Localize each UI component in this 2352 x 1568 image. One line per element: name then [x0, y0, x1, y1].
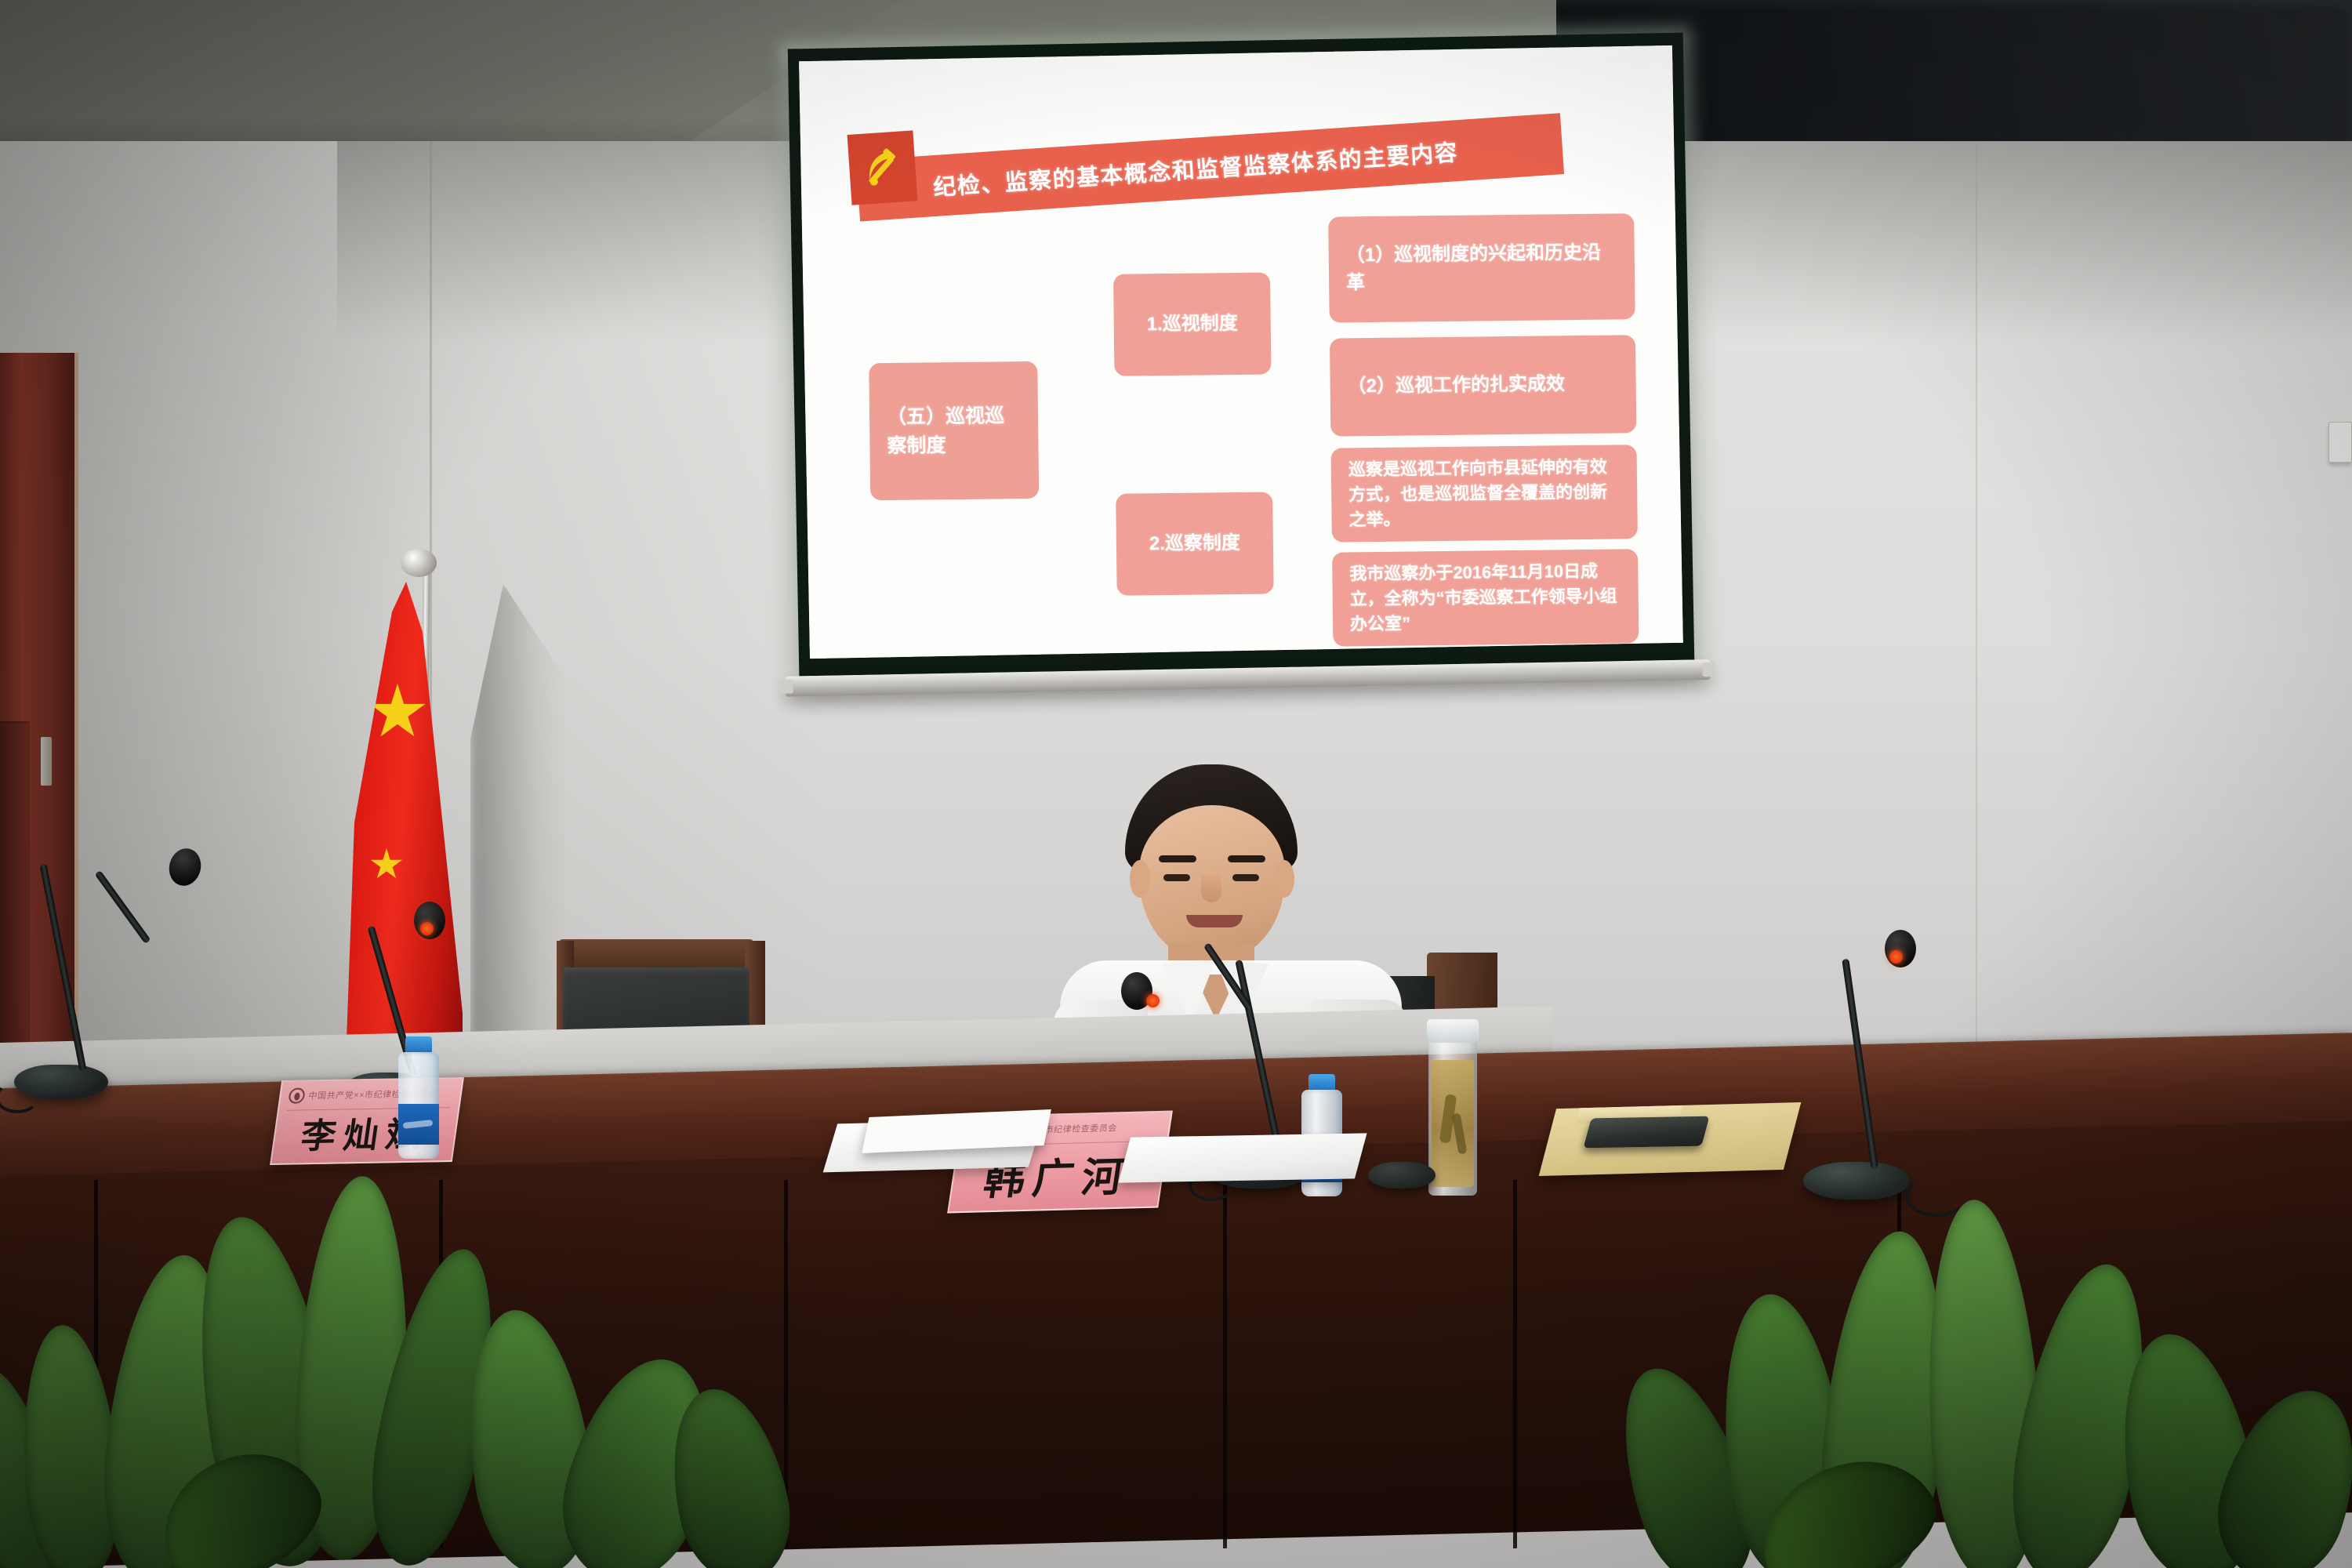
bottle-cap [405, 1036, 432, 1054]
slide-box-branch-2: 2.巡察制度 [1116, 492, 1273, 595]
speaker-brow-left [1159, 855, 1196, 862]
door-hinge-upper [41, 737, 52, 786]
wall-seam-right [1976, 141, 1977, 1082]
wall-light-switch[interactable] [2328, 422, 2352, 463]
conference-room-photo: 纪检、监察的基本概念和监督监察体系的主要内容 （五）巡视巡察制度 [0, 0, 2352, 1568]
slide-box-item-1: （1）巡视制度的兴起和历史沿革 [1328, 213, 1635, 322]
slide-box-branch-1: 1.巡视制度 [1113, 272, 1271, 376]
slide-box-item-2: （2）巡视工作的扎实成效 [1330, 335, 1636, 436]
slide-box-note-1-text: 巡察是巡视工作向市县延伸的有效方式，也是巡视监督全覆盖的创新之举。 [1348, 455, 1621, 533]
slide-box-section-text: （五）巡视巡察制度 [887, 401, 1022, 459]
slide-box-note-2: 我市巡察办于2016年11月10日成立，全称为“市委巡察工作领导小组办公室” [1332, 549, 1639, 646]
table-panel-seam [1223, 1180, 1227, 1548]
slide-title: 纪检、监察的基本概念和监督监察体系的主要内容 [932, 134, 1459, 202]
tea-jar-lid [1427, 1019, 1479, 1043]
flag-star-small [370, 848, 403, 881]
microphone-led-4 [1889, 950, 1903, 964]
speaker-mouth [1186, 915, 1243, 927]
flag-pole-finial [401, 549, 437, 577]
slide-box-item-1-text: （1）巡视制度的兴起和历史沿革 [1346, 239, 1618, 297]
speaker-ear-left [1130, 860, 1150, 898]
desk-puck-device[interactable] [1368, 1162, 1436, 1189]
slide-title-banner: 纪检、监察的基本概念和监督监察体系的主要内容 [856, 113, 1564, 221]
speaker-nose [1201, 874, 1221, 902]
potted-plant-left [0, 1129, 909, 1568]
slide-box-note-1: 巡察是巡视工作向市县延伸的有效方式，也是巡视监督全覆盖的创新之举。 [1331, 445, 1638, 542]
slide-box-branch-2-text: 2.巡察制度 [1149, 530, 1240, 558]
glass-tea-jar[interactable] [1428, 1019, 1477, 1196]
screen-border: 纪检、监察的基本概念和监督监察体系的主要内容 （五）巡视巡察制度 [788, 33, 1694, 677]
speaker-brow-right [1228, 855, 1265, 862]
speaker-eye-left [1163, 874, 1190, 881]
nameplate-emblem-icon [288, 1087, 306, 1103]
table-panel-seam [1513, 1180, 1517, 1548]
microphone-led-2 [420, 922, 434, 935]
slide-box-branch-1-text: 1.巡视制度 [1147, 310, 1238, 339]
speaker-eye-right [1232, 874, 1259, 881]
party-emblem-icon [848, 130, 918, 205]
slide-box-note-2-text: 我市巡察办于2016年11月10日成立，全称为“市委巡察工作领导小组办公室” [1349, 559, 1621, 637]
slide-content: 纪检、监察的基本概念和监督监察体系的主要内容 （五）巡视巡察制度 [849, 119, 1654, 630]
chair-top-rail [558, 939, 754, 971]
printed-documents-right[interactable] [1118, 1133, 1367, 1182]
speaker-ear-right [1274, 860, 1294, 898]
microphone-led-3 [1146, 994, 1160, 1007]
pull-down-projection-screen: 纪检、监察的基本概念和监督监察体系的主要内容 （五）巡视巡察制度 [788, 33, 1694, 677]
potted-plant-right [1615, 1129, 2352, 1568]
slide-box-item-2-text: （2）巡视工作的扎实成效 [1347, 371, 1565, 401]
slide-box-section: （五）巡视巡察制度 [869, 361, 1039, 500]
projected-slide: 纪检、监察的基本概念和监督监察体系的主要内容 （五）巡视巡察制度 [799, 45, 1683, 659]
bottle-cap [1308, 1074, 1335, 1091]
